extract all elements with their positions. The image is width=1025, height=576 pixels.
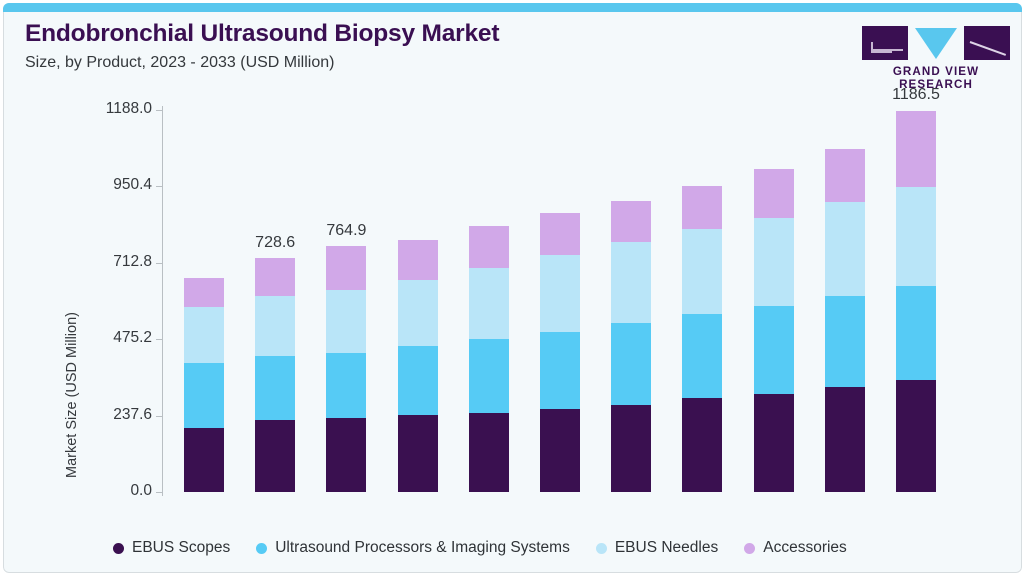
bar-segment[interactable] — [540, 255, 580, 332]
bar-segment[interactable] — [682, 398, 722, 492]
y-tick-mark — [156, 416, 163, 417]
top-accent-bar — [3, 3, 1022, 12]
bar-segment[interactable] — [825, 149, 865, 202]
triangle-icon — [913, 26, 959, 60]
bar-segment[interactable] — [326, 418, 366, 492]
bar-segment[interactable] — [754, 394, 794, 492]
bar-segment[interactable] — [398, 415, 438, 492]
bar-segment[interactable] — [540, 213, 580, 255]
bar-segment[interactable] — [326, 246, 366, 290]
bar-segment[interactable] — [398, 346, 438, 415]
bar-segment[interactable] — [255, 296, 295, 356]
bar-segment[interactable] — [469, 413, 509, 492]
g-logo-icon — [862, 26, 908, 60]
logo-marks — [856, 26, 1016, 60]
bar-segment[interactable] — [611, 405, 651, 492]
bar-segment[interactable] — [469, 226, 509, 267]
bar-2024[interactable]: 728.6 — [255, 258, 295, 492]
bar-segment[interactable] — [184, 278, 224, 307]
bar-2033[interactable]: 1186.5 — [896, 111, 936, 492]
bar-segment[interactable] — [682, 314, 722, 399]
bar-segment[interactable] — [754, 218, 794, 306]
bar-segment[interactable] — [896, 286, 936, 381]
bar-2023[interactable] — [184, 278, 224, 492]
y-tick-label: 950.4 — [113, 176, 152, 194]
legend-color-swatch — [256, 543, 267, 554]
bar-2032[interactable] — [825, 149, 865, 492]
bar-value-label: 1186.5 — [892, 86, 940, 104]
bar-2026[interactable] — [398, 240, 438, 492]
legend-item[interactable]: Ultrasound Processors & Imaging Systems — [256, 539, 570, 557]
legend-label: Accessories — [763, 539, 847, 557]
y-tick-mark — [156, 339, 163, 340]
bar-segment[interactable] — [754, 169, 794, 219]
y-tick-label: 475.2 — [113, 329, 152, 347]
legend-item[interactable]: EBUS Scopes — [113, 539, 230, 557]
bar-segment[interactable] — [184, 307, 224, 364]
bar-segment[interactable] — [469, 339, 509, 412]
bar-segment[interactable] — [326, 290, 366, 353]
y-tick-mark — [156, 110, 163, 111]
bar-segment[interactable] — [825, 202, 865, 296]
legend-label: EBUS Scopes — [132, 539, 230, 557]
bar-segment[interactable] — [896, 380, 936, 492]
bar-segment[interactable] — [825, 296, 865, 387]
bar-segment[interactable] — [611, 242, 651, 323]
y-tick-label: 0.0 — [130, 482, 152, 500]
legend-item[interactable]: Accessories — [744, 539, 847, 557]
legend-color-swatch — [596, 543, 607, 554]
bar-value-label: 728.6 — [255, 234, 295, 252]
bar-segment[interactable] — [255, 420, 295, 492]
legend-color-swatch — [113, 543, 124, 554]
stacked-bar-chart: Market Size (USD Million) 728.6764.91186… — [3, 99, 1025, 519]
bar-2027[interactable] — [469, 226, 509, 492]
legend-label: Ultrasound Processors & Imaging Systems — [275, 539, 570, 557]
bar-segment[interactable] — [682, 186, 722, 229]
bar-segment[interactable] — [398, 280, 438, 347]
bar-segment[interactable] — [540, 409, 580, 492]
bar-segment[interactable] — [896, 111, 936, 187]
legend-color-swatch — [744, 543, 755, 554]
plot-area: 728.6764.91186.5 — [163, 110, 963, 492]
bar-segment[interactable] — [326, 353, 366, 418]
legend-label: EBUS Needles — [615, 539, 718, 557]
bar-segment[interactable] — [184, 363, 224, 428]
y-axis-title: Market Size (USD Million) — [59, 195, 85, 576]
bar-segment[interactable] — [825, 387, 865, 492]
chart-legend: EBUS ScopesUltrasound Processors & Imagi… — [113, 539, 847, 557]
bar-2025[interactable]: 764.9 — [326, 246, 366, 492]
bar-segment[interactable] — [255, 356, 295, 420]
bar-2031[interactable] — [754, 169, 794, 492]
chart-card: Endobronchial Ultrasound Biopsy Market S… — [0, 0, 1025, 576]
y-tick-label: 712.8 — [113, 253, 152, 271]
bar-segment[interactable] — [754, 306, 794, 393]
bar-segment[interactable] — [540, 332, 580, 409]
bar-segment[interactable] — [184, 428, 224, 492]
bar-segment[interactable] — [469, 268, 509, 340]
y-tick-label: 1188.0 — [106, 100, 152, 118]
y-tick-label: 237.6 — [113, 406, 152, 424]
y-tick-mark — [156, 492, 163, 493]
bar-2030[interactable] — [682, 186, 722, 492]
bar-value-label: 764.9 — [326, 222, 366, 240]
bar-segment[interactable] — [611, 201, 651, 242]
r-logo-icon — [964, 26, 1010, 60]
brand-logo: GRAND VIEW RESEARCH — [856, 26, 1016, 91]
y-tick-mark — [156, 263, 163, 264]
legend-item[interactable]: EBUS Needles — [596, 539, 718, 557]
y-tick-mark — [156, 186, 163, 187]
bar-segment[interactable] — [398, 240, 438, 280]
bar-segment[interactable] — [611, 323, 651, 405]
bar-2029[interactable] — [611, 201, 651, 492]
bar-segment[interactable] — [682, 229, 722, 313]
bar-2028[interactable] — [540, 213, 580, 492]
bar-segment[interactable] — [255, 258, 295, 296]
bar-segment[interactable] — [896, 187, 936, 286]
